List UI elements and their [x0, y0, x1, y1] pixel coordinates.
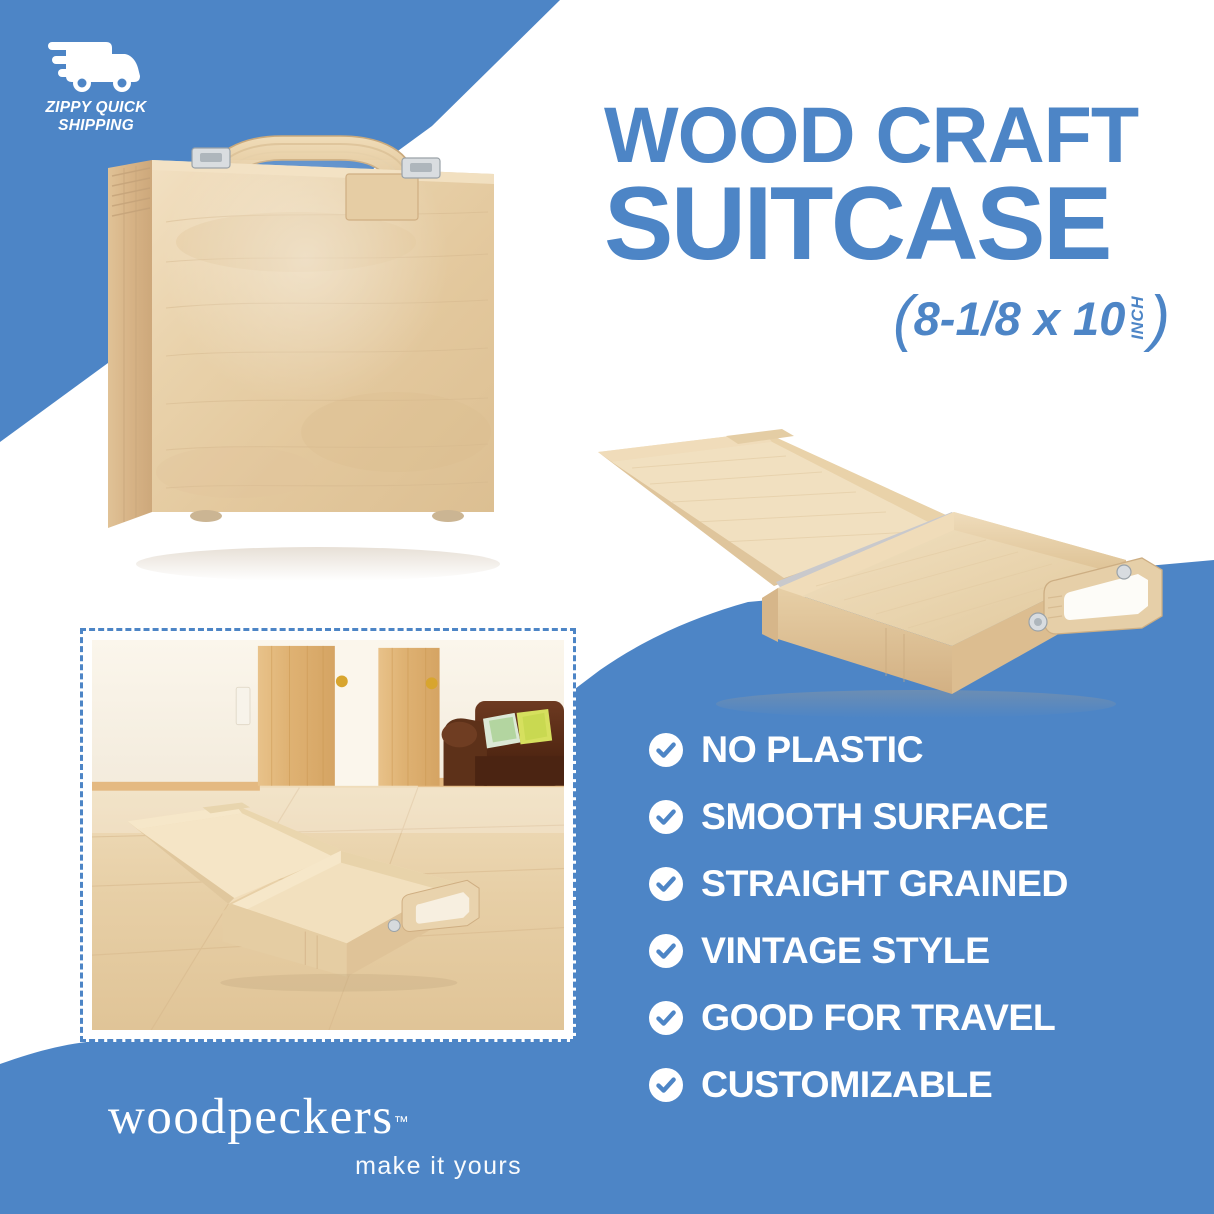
feature-item-vintage-style: VINTAGE STYLE	[648, 917, 1178, 984]
dimensions-open-paren: (	[893, 294, 914, 344]
door-knob-right	[426, 677, 438, 689]
open-wood-suitcase-photo	[586, 420, 1196, 720]
shipping-badge: ZIPPY QUICK SHIPPING	[26, 34, 166, 136]
check-circle-icon	[648, 1000, 684, 1036]
door-knob-left	[336, 675, 348, 687]
suitcase-foot-right	[432, 510, 464, 522]
check-circle-icon	[648, 1067, 684, 1103]
shipping-badge-text: ZIPPY QUICK SHIPPING	[26, 99, 166, 136]
feature-item-good-for-travel: GOOD FOR TRAVEL	[648, 984, 1178, 1051]
feature-label: CUSTOMIZABLE	[701, 1066, 992, 1104]
shipping-line-1: ZIPPY QUICK	[46, 99, 147, 116]
feature-item-straight-grained: STRAIGHT GRAINED	[648, 850, 1178, 917]
suitcase-latch-left	[192, 148, 230, 168]
dimensions-unit: INCH	[1129, 296, 1146, 340]
delivery-truck-icon	[48, 34, 144, 94]
brand-trademark: ™	[394, 1114, 409, 1131]
feature-list: NO PLASTIC SMOOTH SURFACE STRAIGHT GRAIN…	[648, 716, 1178, 1118]
brand-name: woodpeckers	[108, 1092, 394, 1143]
poster-canvas: ZIPPY QUICK SHIPPING WOOD CRAFT SUITCASE…	[0, 0, 1214, 1214]
title-block: WOOD CRAFT SUITCASE ( 8-1/8 x 10 INCH )	[604, 96, 1180, 346]
feature-label: NO PLASTIC	[701, 731, 923, 769]
dimensions-close-paren: )	[1149, 294, 1170, 344]
dimensions-value: 8-1/8 x 10	[914, 291, 1126, 346]
check-circle-icon	[648, 933, 684, 969]
title-line-1: WOOD CRAFT	[604, 96, 1180, 173]
feature-item-smooth-surface: SMOOTH SURFACE	[648, 783, 1178, 850]
wooden-door-right	[378, 648, 439, 786]
lifestyle-photo-frame	[80, 628, 576, 1042]
feature-label: VINTAGE STYLE	[701, 932, 990, 970]
light-switch	[236, 687, 250, 724]
handle-mount-block	[346, 174, 418, 220]
feature-item-customizable: CUSTOMIZABLE	[648, 1051, 1178, 1118]
dimensions-label: ( 8-1/8 x 10 INCH )	[604, 291, 1180, 346]
feature-item-no-plastic: NO PLASTIC	[648, 716, 1178, 783]
suitcase-foot-left	[190, 510, 222, 522]
feature-label: GOOD FOR TRAVEL	[701, 999, 1055, 1037]
check-circle-icon	[648, 799, 684, 835]
open-case-latch-top	[1117, 565, 1131, 579]
title-line-2: SUITCASE	[604, 171, 1180, 277]
feature-label: SMOOTH SURFACE	[701, 798, 1048, 836]
closed-wood-suitcase-photo	[96, 112, 516, 592]
suitcase-latch-right	[402, 158, 440, 178]
shipping-line-2: SHIPPING	[58, 117, 134, 134]
lifestyle-room-photo	[92, 640, 564, 1030]
check-circle-icon	[648, 732, 684, 768]
feature-label: STRAIGHT GRAINED	[701, 865, 1068, 903]
brand-tagline: make it yours	[108, 1152, 528, 1181]
check-circle-icon	[648, 866, 684, 902]
brand-logo: woodpeckers™ make it yours	[108, 1092, 528, 1181]
